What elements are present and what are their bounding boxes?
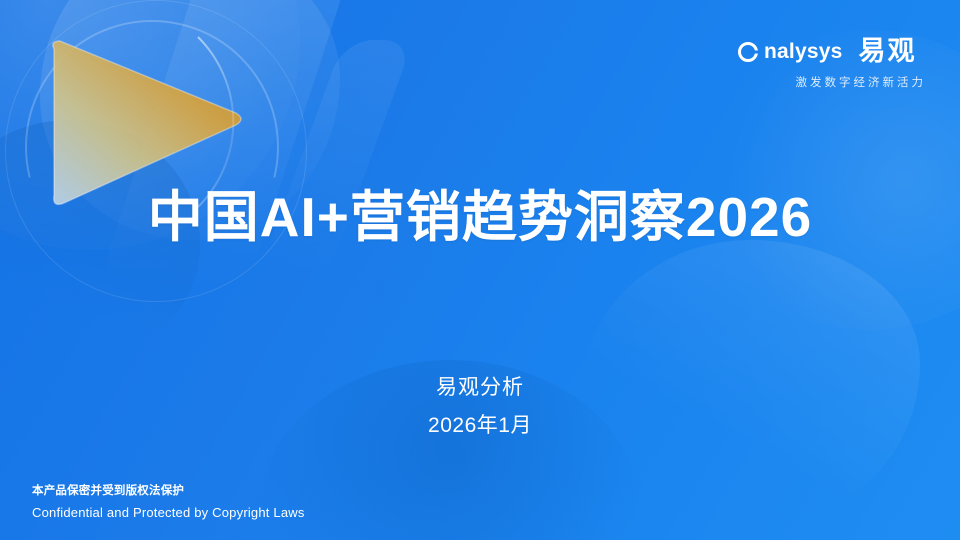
- footer-notice-cn: 本产品保密并受到版权法保护: [32, 482, 305, 502]
- presentation-cover-slide: nalysys 易观 激发数字经济新活力 中国AI+营销趋势洞察2026 易观分…: [0, 0, 960, 540]
- logo-tagline: 激发数字经济新活力: [738, 74, 928, 90]
- brand-logo: nalysys 易观 激发数字经济新活力: [738, 38, 928, 90]
- logo-name-cn: 易观: [858, 38, 916, 65]
- play-arrow-graphic: [48, 35, 263, 210]
- slide-subtitle-block: 易观分析 2026年1月: [0, 372, 960, 441]
- copyright-footer: 本产品保密并受到版权法保护 Confidential and Protected…: [32, 482, 305, 524]
- subtitle-date: 2026年1月: [0, 410, 960, 442]
- logo-name-en: nalysys: [764, 41, 842, 62]
- footer-notice-en: Confidential and Protected by Copyright …: [32, 502, 305, 524]
- slide-title: 中国AI+营销趋势洞察2026: [0, 186, 960, 249]
- logo-row: nalysys 易观: [738, 38, 928, 65]
- subtitle-organization: 易观分析: [0, 372, 960, 404]
- analysys-circle-icon: [738, 42, 758, 62]
